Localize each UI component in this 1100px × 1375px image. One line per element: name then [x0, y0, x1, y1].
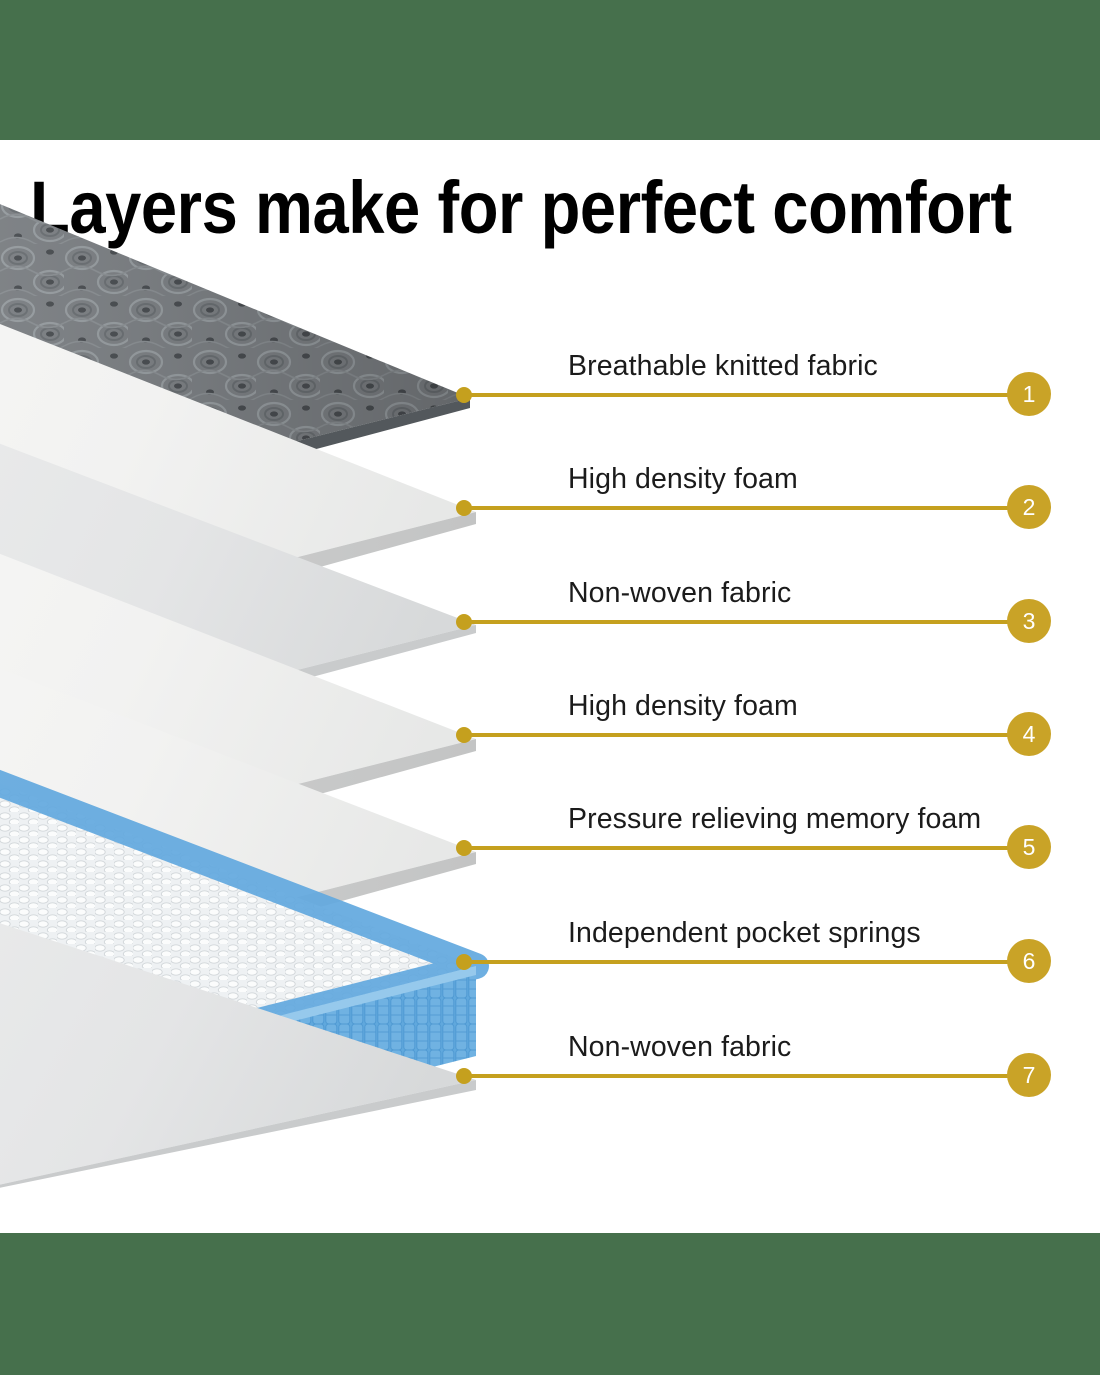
callout-6: Independent pocket springs 6	[0, 916, 1100, 990]
callout-label-3: Non-woven fabric	[568, 576, 791, 610]
callout-leader-line-6	[466, 960, 1017, 964]
callout-leader-line-2	[466, 506, 1017, 510]
callout-badge-2[interactable]: 2	[1007, 485, 1051, 529]
callout-3: Non-woven fabric 3	[0, 576, 1100, 650]
callout-label-6: Independent pocket springs	[568, 916, 921, 950]
callout-leader-line-4	[466, 733, 1017, 737]
callout-label-4: High density foam	[568, 689, 798, 723]
callout-badge-7[interactable]: 7	[1007, 1053, 1051, 1097]
callout-badge-6[interactable]: 6	[1007, 939, 1051, 983]
callout-label-5: Pressure relieving memory foam	[568, 802, 981, 836]
callout-leader-line-1	[466, 393, 1017, 397]
callout-badge-1[interactable]: 1	[1007, 372, 1051, 416]
infographic-page: Layers make for perfect comfort	[0, 0, 1100, 1375]
callout-list: Breathable knitted fabric 1 High density…	[0, 0, 1100, 1375]
callout-leader-line-7	[466, 1074, 1017, 1078]
callout-leader-line-3	[466, 620, 1017, 624]
callout-leader-line-5	[466, 846, 1017, 850]
callout-4: High density foam 4	[0, 689, 1100, 763]
callout-7: Non-woven fabric 7	[0, 1030, 1100, 1104]
callout-label-1: Breathable knitted fabric	[568, 349, 878, 383]
callout-badge-4[interactable]: 4	[1007, 712, 1051, 756]
callout-1: Breathable knitted fabric 1	[0, 349, 1100, 423]
callout-5: Pressure relieving memory foam 5	[0, 802, 1100, 876]
callout-label-2: High density foam	[568, 462, 798, 496]
callout-label-7: Non-woven fabric	[568, 1030, 791, 1064]
callout-badge-3[interactable]: 3	[1007, 599, 1051, 643]
callout-badge-5[interactable]: 5	[1007, 825, 1051, 869]
callout-2: High density foam 2	[0, 462, 1100, 536]
